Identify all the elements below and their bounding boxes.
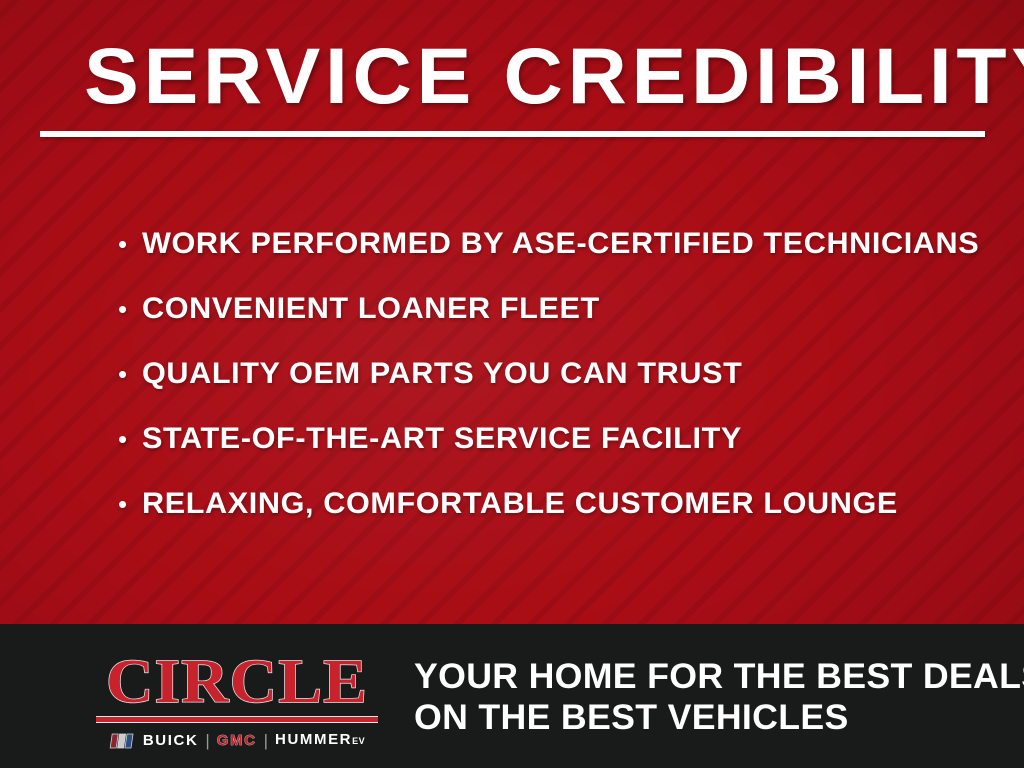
title-divider [40,131,985,137]
brand-separator: | [264,733,268,749]
bullet-dot-icon [118,231,142,257]
brand-label-gmc: GMC [217,733,257,749]
brand-label-hummer-ev: EV [352,736,365,746]
dealer-logo: CIRCLE BUICK | GMC | HUMMEREV [96,652,378,749]
bullet-dot-icon [118,361,142,387]
footer-bar: CIRCLE BUICK | GMC | HUMMEREV [0,624,1024,768]
list-item: WORK PERFORMED BY ASE-CERTIFIED TECHNICI… [118,227,998,292]
list-item-label: STATE-OF-THE-ART SERVICE FACILITY [142,422,742,456]
promo-slide: SERVICE CREDIBILITY WORK PERFORMED BY AS… [0,0,1024,768]
list-item: STATE-OF-THE-ART SERVICE FACILITY [118,422,998,487]
brand-label-hummer-text: HUMMER [275,731,352,748]
bullet-dot-icon [118,296,142,322]
bullet-dot-icon [118,426,142,452]
feature-list: WORK PERFORMED BY ASE-CERTIFIED TECHNICI… [118,227,998,552]
list-item-label: WORK PERFORMED BY ASE-CERTIFIED TECHNICI… [142,227,979,261]
tagline-line-2: ON THE BEST VEHICLES [414,697,1024,738]
dealer-wordmark: CIRCLE [88,652,387,712]
buick-tri-shield-icon [109,733,136,749]
brand-label-buick: BUICK [143,733,199,749]
list-item-label: QUALITY OEM PARTS YOU CAN TRUST [142,357,742,391]
list-item: QUALITY OEM PARTS YOU CAN TRUST [118,357,998,422]
bullet-dot-icon [118,491,142,517]
brand-label-hummer: HUMMEREV [275,732,365,749]
list-item: CONVENIENT LOANER FLEET [118,292,998,357]
list-item: RELAXING, COMFORTABLE CUSTOMER LOUNGE [118,487,998,552]
list-item-label: RELAXING, COMFORTABLE CUSTOMER LOUNGE [142,487,898,521]
page-title: SERVICE CREDIBILITY [84,34,1020,118]
list-item-label: CONVENIENT LOANER FLEET [142,292,600,326]
logo-divider [96,716,378,723]
tagline: YOUR HOME FOR THE BEST DEALS ON THE BEST… [414,656,1024,738]
brand-separator: | [205,733,209,749]
tagline-line-1: YOUR HOME FOR THE BEST DEALS [414,656,1024,697]
brand-strip: BUICK | GMC | HUMMEREV [96,732,378,749]
